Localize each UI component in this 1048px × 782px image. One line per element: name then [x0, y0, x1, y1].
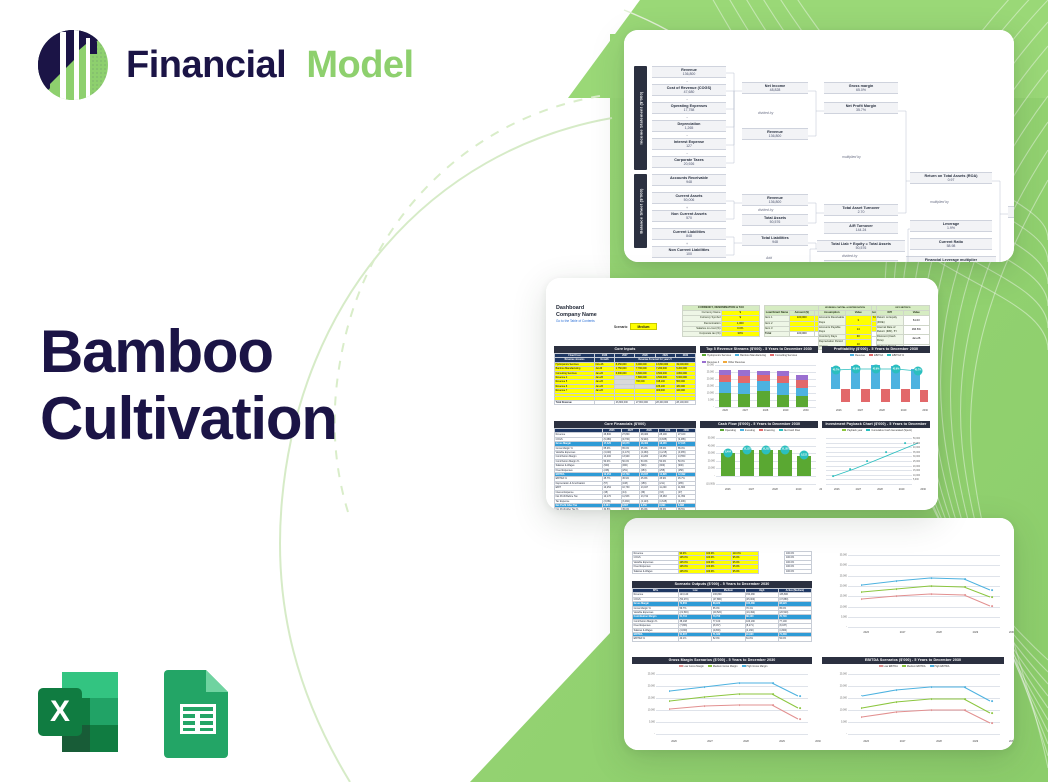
- working-capital-table: WORKING CAPITAL & DEPRECIATION Assumptio…: [818, 305, 872, 350]
- scenario-label: Scenario: [614, 325, 627, 329]
- bar-2030: [796, 369, 808, 407]
- table-row: EBITDA %40.1%52.0%61.0%52.0%: [633, 637, 812, 641]
- plot-area-top5: 30,000 25,000 20,000 15,000 10,000 5,000…: [715, 365, 816, 407]
- chart-title-investment-payback: Investment Payback Chart ($'000) - 5 Yea…: [822, 421, 930, 428]
- dashboard-sheet: Dashboard Company Name Go to the Table o…: [546, 278, 938, 510]
- core-inputs-table: Fixed Cost 2026 2027 2028 2029 2030 Reve…: [554, 353, 696, 405]
- bar-2029: [777, 369, 789, 407]
- core-inputs-header: Core Inputs: [554, 346, 696, 353]
- chart-legend-cash-flow: Operating Investing Financing Net Cash F…: [700, 428, 818, 432]
- chart-title-ebitda-scenarios: EBITDA Scenarios ($'000) - 5 Years to De…: [822, 657, 1004, 664]
- table-row: Internal Rate of Return (IRR), 5Y166.6%: [877, 325, 930, 334]
- chart-title-cash-flow: Cash Flow ($'000) - 5 Years to December …: [700, 421, 818, 428]
- plot-area-profitability: 45.7% 45.9% 45.9% 45.9% 45.7%: [828, 363, 928, 407]
- google-sheets-icon: [160, 666, 234, 758]
- legend-item: Cumulative Cash Generated (Spent): [866, 429, 911, 432]
- legend-item: Low EBITDA: [879, 665, 898, 668]
- currency-assumptions-table: CURRENCY, DENOMINATION & TAX Currency Na…: [682, 305, 760, 337]
- table-row: Accounts Receivable Days3: [819, 316, 872, 325]
- table-row: Total Revenue 26,800,000 27,800,000 28,4…: [555, 400, 696, 404]
- microsoft-excel-icon: X: [32, 666, 124, 758]
- table-row: Net Profit After Tax %34.5%35.0%36.0%36.…: [555, 508, 696, 510]
- scenario-outputs-table: KPIs Low Medium High Active (Medium) Rev…: [632, 588, 812, 642]
- promo-slide: Financial Model Bamboo Cultivation X: [0, 0, 1048, 782]
- xaxis-cash-flow: 20262027 20282029 2030: [716, 488, 834, 491]
- core-financials-table: 2026 2027 2028 2029 2030 Revenue26,80027…: [554, 428, 696, 510]
- chart-legend-top5: Hydroponics Services Bamboo Manufacturin…: [700, 353, 818, 364]
- chart-title-top5-revenue: Top 5 Revenue Streams ($'000) - 5 Years …: [700, 346, 818, 353]
- dupont-tree: Income Statement ($'000) Balance Sheet (…: [634, 64, 1006, 240]
- scenario-assumptions-table: Revenue90.0%100.0%110.0%100.0% COGS105.0…: [632, 551, 812, 574]
- plot-area-ebitda: 25,000 20,000 15,000 10,000 5,000 -: [848, 674, 1000, 734]
- plot-area-revenue-scenarios: 35,000 30,000 25,000 20,000 15,000 10,00…: [848, 555, 1000, 627]
- legend-item: Bamboo Manufacturing: [735, 354, 766, 357]
- brand-word-model: Model: [306, 44, 413, 86]
- chart-title-profitability: Profitability ($'000) - 5 Years to Decem…: [822, 346, 930, 353]
- legend-item: EBITDA: [869, 354, 883, 357]
- table-row: Salaries & Wages105.0%100.0%95.0%100.0%: [633, 569, 812, 573]
- left-content-panel: Financial Model Bamboo Cultivation X: [0, 0, 470, 782]
- xaxis-payback: 20262027 20282029 2030: [826, 488, 934, 491]
- brand-logo: Financial Model: [36, 28, 414, 102]
- scenario-outputs-header: Scenario Outputs ($'000) - 5 Years to De…: [632, 581, 812, 588]
- chart-profitability: Revenue EBITDA EBITDA %: [822, 353, 930, 417]
- legend-item: Operating: [720, 429, 736, 432]
- legend-item: Consulting Services: [770, 354, 797, 357]
- scenario-content: Revenue90.0%100.0%110.0%100.0% COGS105.0…: [632, 545, 1007, 730]
- preview-card-dupont-analysis[interactable]: Income Statement ($'000) Balance Sheet (…: [624, 30, 1014, 262]
- brand-wordmark: Financial Model: [126, 46, 414, 84]
- legend-item: EBITDA %: [887, 354, 904, 357]
- chart-top5-revenue: Hydroponics Services Bamboo Manufacturin…: [700, 353, 818, 417]
- legend-item: Medium EBITDA: [902, 665, 926, 668]
- chart-legend-payback: Payback year Cumulative Cash Generated (…: [822, 428, 930, 432]
- dashboard-title: Dashboard Company Name Go to the Table o…: [556, 305, 597, 323]
- legend-item: Payback year: [842, 429, 862, 432]
- legend-item: Other Revenue: [723, 361, 745, 364]
- chart-legend-profitability: Revenue EBITDA EBITDA %: [822, 353, 930, 357]
- page-title-line2: Cultivation: [40, 385, 337, 452]
- page-title-line1: Bamboo: [40, 318, 273, 385]
- svg-text:X: X: [50, 695, 70, 728]
- xaxis-revenue-scenarios: 20262027 20282029 2030: [848, 631, 1014, 634]
- legend-item: Low Gross Margin: [679, 665, 704, 668]
- chart-title-gross-margin-scenarios: Gross Margin Scenarios ($'000) - 5 Years…: [632, 657, 812, 664]
- scenario-selector[interactable]: Scenario Medium: [614, 323, 657, 330]
- scenario-sheet: Revenue90.0%100.0%110.0%100.0% COGS105.0…: [624, 518, 1014, 750]
- legend-item: Revenue: [850, 354, 865, 357]
- legend-item: Investing: [740, 429, 755, 432]
- dashboard-title-line2: Company Name: [556, 312, 597, 319]
- chart-cash-flow: Operating Investing Financing Net Cash F…: [700, 428, 818, 498]
- dupont-node-roe: Return on Equity (ROE)61.03: [1008, 206, 1014, 218]
- table-row: Return on Equity (ROE)61.03: [877, 316, 930, 325]
- bar-2028: [757, 369, 769, 407]
- legend-item: Net Cash Flow: [779, 429, 800, 432]
- scenario-value[interactable]: Medium: [630, 323, 656, 330]
- table-row: Accounts Payable Days14: [819, 325, 872, 334]
- preview-card-scenario-analysis[interactable]: Revenue90.0%100.0%110.0%100.0% COGS105.0…: [624, 518, 1014, 750]
- table-row: Discount (Cash Flow)Jan-26: [877, 335, 930, 344]
- legend-item: Hydroponics Services: [702, 354, 731, 357]
- preview-card-dashboard[interactable]: Dashboard Company Name Go to the Table o…: [546, 278, 938, 510]
- compatible-apps: X: [32, 666, 234, 758]
- page-title: Bamboo Cultivation: [40, 318, 337, 452]
- plot-area-cash-flow: 50,000 40,000 30,000 20,000 10,000 - (10…: [716, 438, 816, 484]
- xaxis-top5: 20262027 20282029 2030: [715, 409, 816, 412]
- chart-revenue-scenarios: 35,000 30,000 25,000 20,000 15,000 10,00…: [822, 551, 1004, 641]
- brand-word-financial: Financial: [126, 44, 286, 86]
- legend-item: High EBITDA: [930, 665, 950, 668]
- dupont-sheet: Income Statement ($'000) Balance Sheet (…: [624, 30, 1014, 262]
- chart-legend-ebitda: Low EBITDA Medium EBITDA High EBITDA: [822, 664, 1004, 668]
- dupont-connector-lines: [634, 64, 1014, 262]
- dashboard-back-link[interactable]: Go to the Table of Contents: [556, 319, 597, 323]
- yaxis-payback: 50,000 45,000 40,000 35,000 30,000 25,00…: [913, 438, 930, 484]
- bar-2026: [719, 369, 731, 407]
- circle-bar-chart-logo-icon: [36, 28, 110, 102]
- xaxis-profitability: 20262027 20282029 2030: [828, 409, 936, 412]
- chart-legend-gross-margin: Low Gross Margin Medium Gross Margin Hig…: [632, 664, 812, 668]
- xaxis-gross-margin: 20262027 20282029 2030: [656, 740, 836, 743]
- legend-item: High Gross Margin: [742, 665, 768, 668]
- xaxis-ebitda: 20262027 20282029 2030: [848, 740, 1014, 743]
- plot-area-gross-margin: 25,000 20,000 15,000 10,000 5,000 -: [656, 674, 808, 734]
- chart-investment-payback: Payback year Cumulative Cash Generated (…: [822, 428, 930, 498]
- core-financials-header: Core Financials ($'000): [554, 421, 696, 428]
- dashboard-title-line1: Dashboard: [556, 305, 597, 312]
- legend-item: Financing: [759, 429, 775, 432]
- chart-ebitda-scenarios: Low EBITDA Medium EBITDA High EBITDA 25,…: [822, 664, 1004, 750]
- legend-item: Medium Gross Margin: [708, 665, 738, 668]
- chart-gross-margin-scenarios: Low Gross Margin Medium Gross Margin Hig…: [632, 664, 812, 750]
- bar-2027: [738, 369, 750, 407]
- plot-area-payback: [826, 438, 912, 484]
